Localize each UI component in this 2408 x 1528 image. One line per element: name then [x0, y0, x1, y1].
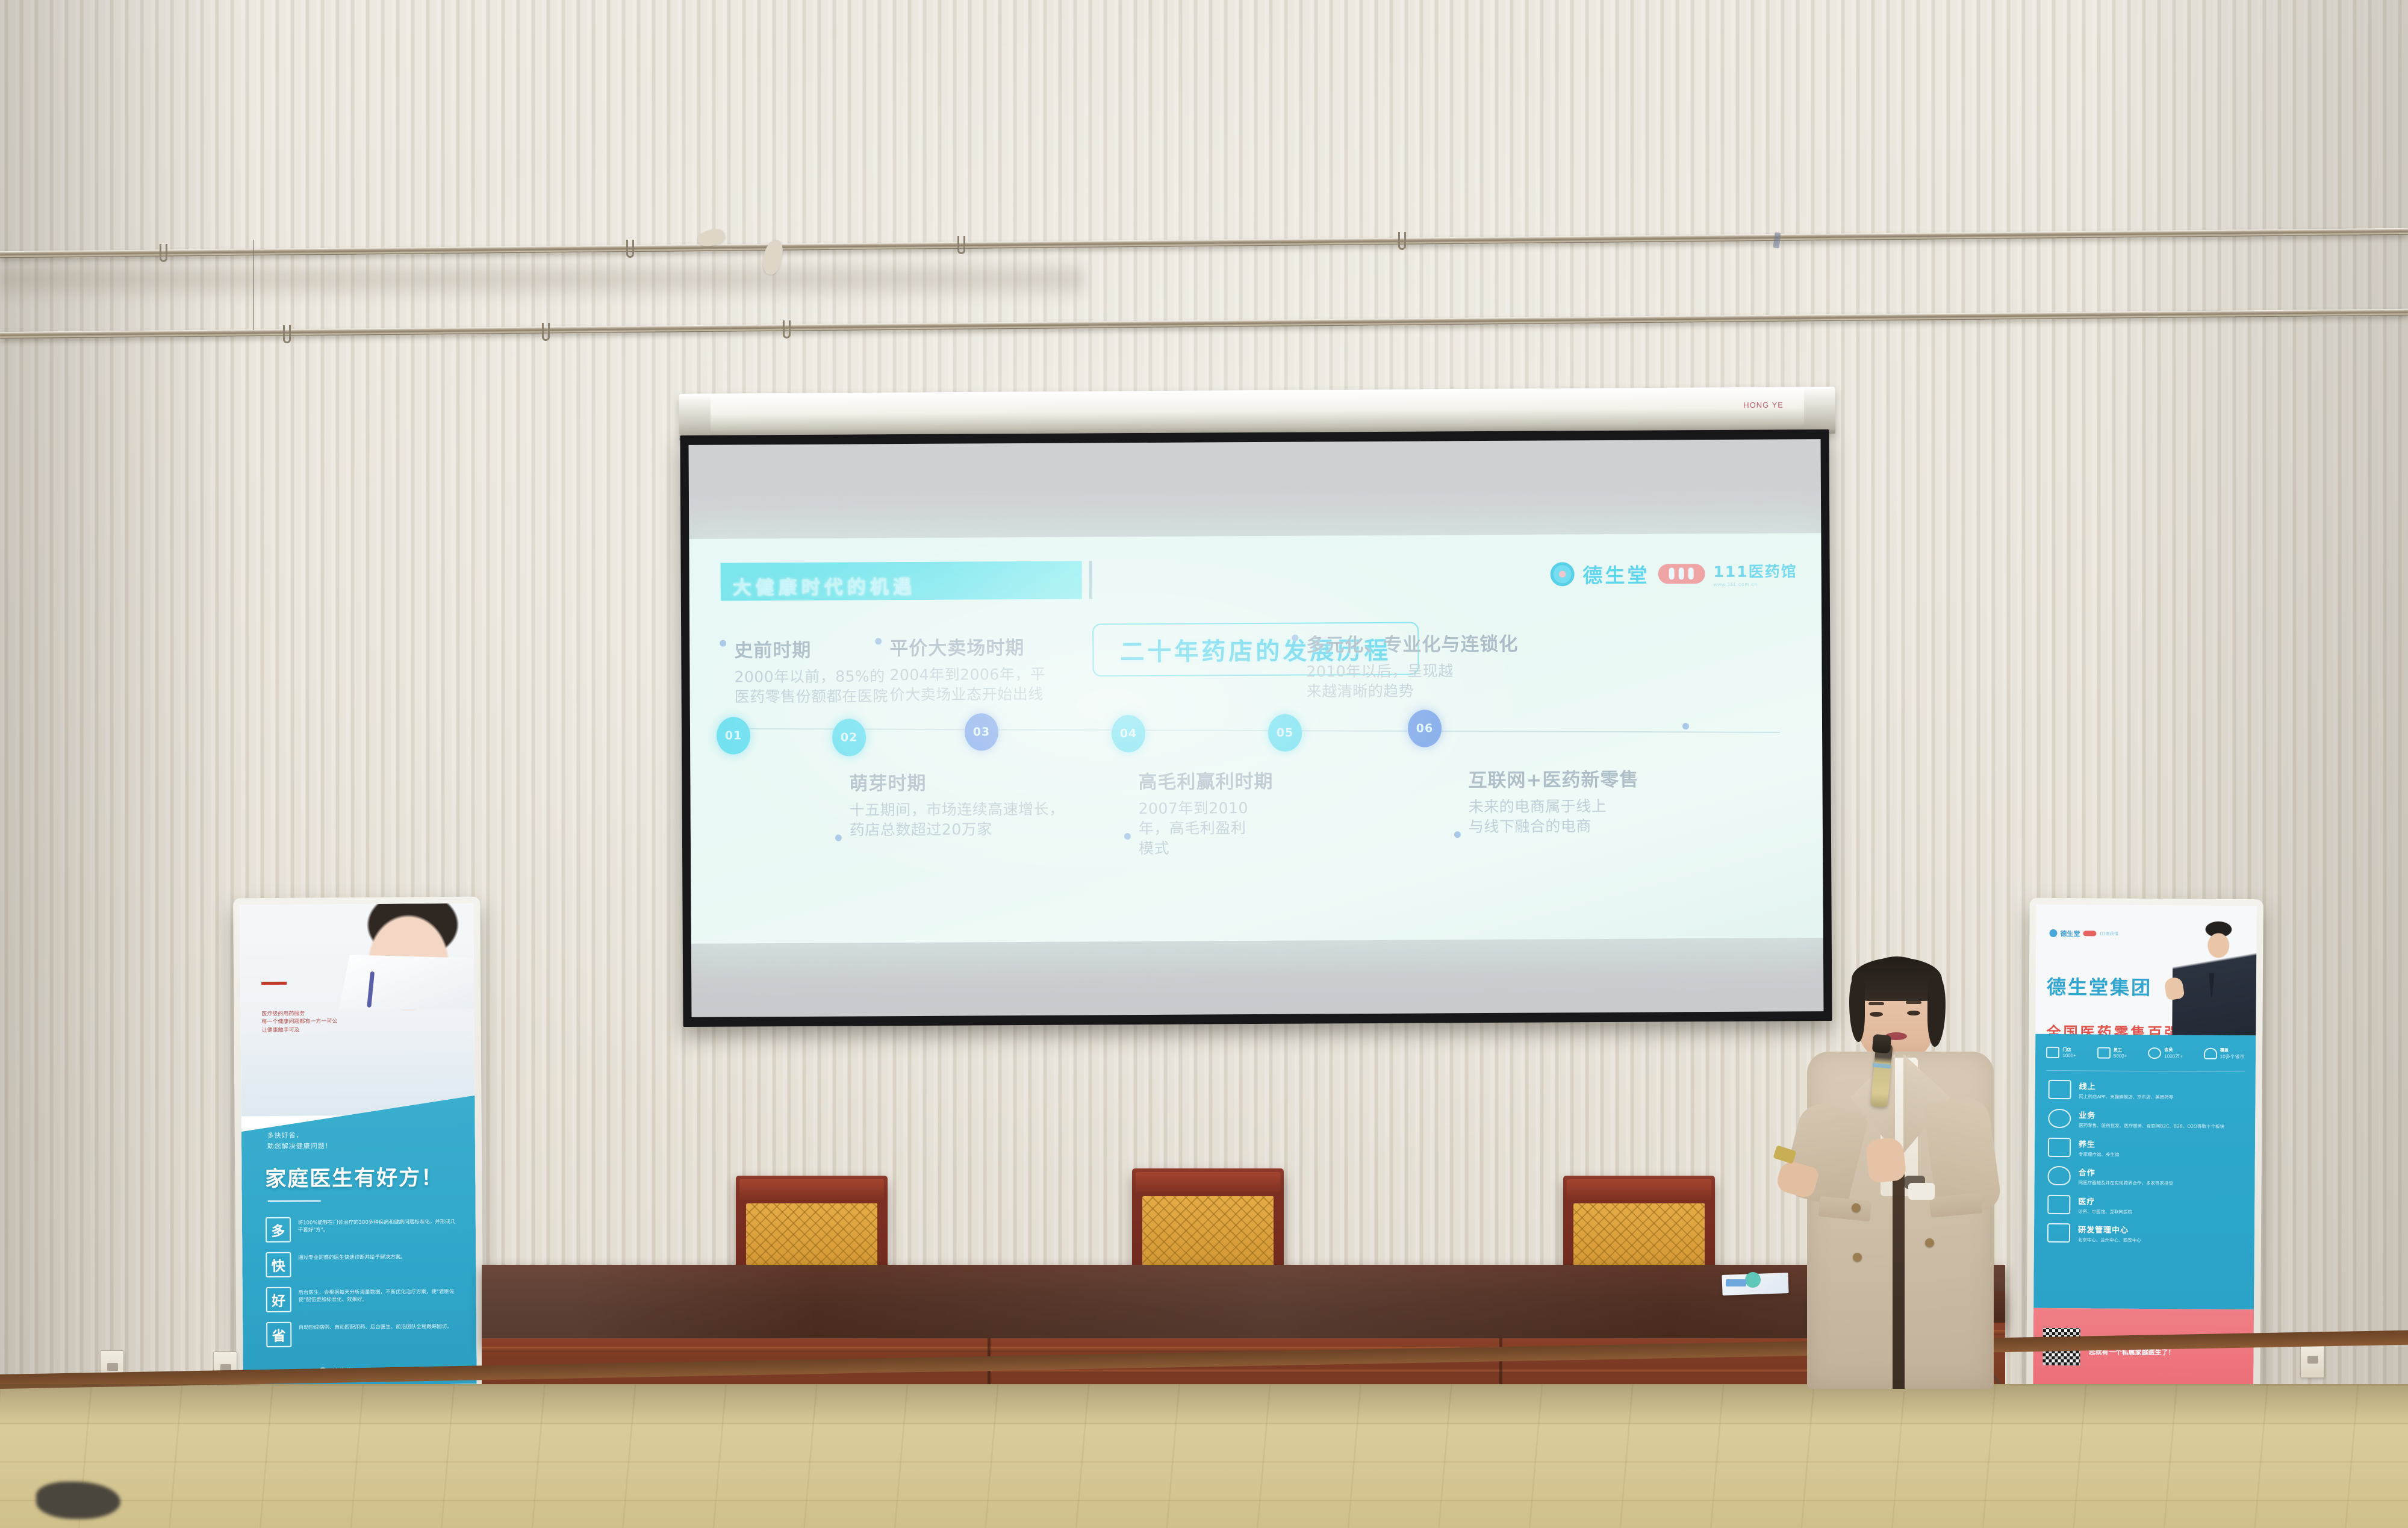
timeline-body: 十五期间，市场连续高速增长，药店总数超过20万家: [850, 799, 1072, 840]
item-desc: 同医疗器械及并在实现跨界合作，多家百家投资: [2078, 1179, 2173, 1187]
timeline-node-01: 01: [717, 717, 750, 754]
bullet-dot-icon: [875, 638, 882, 644]
screen-brand-label: HONG YE: [1743, 401, 1784, 410]
paper-accent-green: [1745, 1272, 1761, 1288]
timeline-node-label: 01: [725, 729, 742, 742]
executive-photo: [2172, 920, 2257, 1036]
brand-secondary-url: www.111.com.cn: [1714, 581, 1797, 587]
feature-desc: 自动形成病例、自动匹配用药、后台医生、前沿团队全程跟踪回访。: [299, 1321, 452, 1332]
timeline-node-label: 04: [1120, 727, 1137, 740]
banner-left-title: 家庭医生有好方！: [265, 1161, 443, 1193]
timeline-item-03: 平价大卖场时期 2004年到2006年，平价大卖场业态开始出线: [875, 632, 1056, 705]
feature-desc: 通过专业同感的医生快速诊断并给予解决方案。: [298, 1251, 406, 1262]
chair-crest: [739, 1179, 884, 1200]
business-grid-icon: [2048, 1109, 2071, 1128]
list-item: 研发管理中心北京中心、兰州中心、西安中心: [2047, 1223, 2244, 1245]
item-desc: 专家理疗馆、养生馆: [2079, 1151, 2120, 1158]
stat-item: 员工5000+: [2097, 1047, 2127, 1059]
eye-right: [1907, 1011, 1920, 1015]
rod-hook: [957, 236, 965, 254]
capsule-logo-icon: [1658, 564, 1705, 584]
banner-left-rule: [267, 1200, 320, 1202]
feature-desc: 将100%能够在门诊治疗的300多种疾病和健康问题标准化，并形成几千套好"方"。: [298, 1216, 457, 1235]
timeline-node-label: 02: [841, 731, 858, 744]
bullet-dot-icon: [835, 835, 842, 841]
brand-primary-name: 德生堂: [1582, 560, 1649, 589]
slide-brand-row: 德生堂 111医药馆 www.111.com.cn: [1550, 558, 1797, 588]
store-icon: [2046, 1047, 2059, 1058]
hair-side-left: [1849, 976, 1865, 1042]
bullet-dot-icon: [720, 640, 726, 647]
list-item: 业务医药零售、医药批发、医疗服务、互联网B2C、B2B、O2O等数十个板块: [2048, 1109, 2244, 1130]
feature-glyph: 快: [266, 1252, 291, 1277]
timeline-node-label: 06: [1416, 722, 1434, 735]
timeline-heading: 高毛利赢利时期: [1138, 766, 1310, 794]
capsule-logo-icon: [2083, 931, 2096, 937]
timeline-item-06: 互联网+医药新零售 未来的电商属于线上与线下融合的电商: [1454, 764, 1653, 837]
handshake-icon: [2047, 1166, 2070, 1185]
chair-crest: [1136, 1172, 1280, 1193]
timeline-node-06: 06: [1408, 709, 1442, 747]
banner-left-kicker: 多快好省， 助您解决健康问题！: [267, 1130, 332, 1152]
stat-label: 员工: [2114, 1047, 2127, 1053]
projected-slide: 大健康时代的机遇 德生堂 111医药馆 www.111.com.cn: [689, 533, 1823, 944]
case-endcap-right: [1804, 388, 1835, 429]
rod-hook: [1398, 232, 1406, 250]
wall-shadow-left: [0, 0, 253, 1397]
timeline-body: 未来的电商属于线上与线下融合的电商: [1469, 796, 1619, 837]
timeline-end-dot: [1682, 723, 1689, 729]
timeline-heading: 多元化、专业化与连锁化: [1306, 629, 1514, 657]
conference-room-scene: HONG YE 大健康时代的机遇 德生堂 111医药馆: [0, 0, 2408, 1528]
desheng-logo-icon: [2049, 929, 2057, 937]
list-item: 好 后台医生，会根据每天分析海量数据，不断优化治疗方案，使"君臣佐使"配伍更加标…: [266, 1286, 457, 1312]
floor-shadow: [0, 1384, 2408, 1426]
timeline-node-05: 05: [1268, 714, 1302, 752]
rnd-gear-icon: [2047, 1223, 2070, 1243]
list-item: 医疗诊所、中医馆、互联网医院: [2047, 1195, 2244, 1217]
item-title: 医疗: [2078, 1197, 2095, 1206]
hair-side-right: [1927, 976, 1946, 1047]
member-icon: [2148, 1047, 2161, 1059]
doctor-coat: [338, 954, 477, 1010]
timeline-node-label: 05: [1277, 726, 1294, 740]
timeline-body: 2000年以前，85%的医药零售份额都在医院: [734, 666, 894, 706]
banner-stand-right: 德生堂 111医药馆 德生堂集团 全国医药零售百强 德生堂创立于1995年，是一…: [2026, 898, 2263, 1394]
timeline-item-01: 史前时期 2000年以前，85%的医药零售份额都在医院: [720, 634, 895, 707]
coat-button: [1853, 1253, 1862, 1262]
timeline-item-04: 高毛利赢利时期 2007年到2010年，高毛利盈利模式: [1124, 766, 1311, 859]
timeline-heading: 平价大卖场时期: [889, 632, 1056, 660]
screen-black-border: 大健康时代的机遇 德生堂 111医药馆 www.111.com.cn: [680, 429, 1832, 1027]
item-title: 养生: [2079, 1140, 2095, 1149]
rod-hook: [160, 244, 167, 262]
stat-label: 覆盖: [2220, 1047, 2245, 1053]
brand-secondary-name: 111医药馆: [1713, 560, 1797, 582]
sleeve-cuff: [1908, 1183, 1935, 1200]
banner-right-poster: 德生堂 111医药馆 德生堂集团 全国医药零售百强 德生堂创立于1995年，是一…: [2033, 905, 2257, 1387]
item-title: 合作: [2079, 1168, 2095, 1177]
banner-right-stats: 门店1000+ 员工5000+ 会员1000万+ 覆盖10多个省市: [2046, 1046, 2245, 1060]
item-desc: 网上药店APP、天猫旗舰店、京东店、美团药零: [2079, 1093, 2173, 1101]
eyebrow-right: [1906, 1001, 1921, 1004]
stat-label: 门店: [2062, 1047, 2076, 1053]
rod-hook: [283, 325, 291, 343]
desheng-logo-icon: [1550, 562, 1574, 586]
stat-value: 1000万+: [2164, 1053, 2183, 1060]
item-desc: 北京中心、兰州中心、西安中心: [2078, 1237, 2141, 1244]
wall-socket-right[interactable]: [2300, 1343, 2324, 1378]
item-title: 研发管理中心: [2078, 1226, 2129, 1236]
item-title: 业务: [2079, 1111, 2095, 1120]
timeline-item-05: 多元化、专业化与连锁化 2010年以后，呈现越来越清晰的趋势: [1292, 629, 1515, 702]
feature-glyph: 好: [266, 1286, 291, 1312]
logo-brand-sub: 111医药馆: [2099, 931, 2118, 937]
slide-header-text: 大健康时代的机遇: [733, 572, 916, 600]
bullet-dot-icon: [1124, 833, 1131, 840]
timeline-node-04: 04: [1112, 715, 1145, 752]
eye-left: [1870, 1012, 1883, 1017]
timeline-node-02: 02: [832, 719, 866, 756]
chair-crest: [1567, 1179, 1711, 1200]
presenter-person: [1779, 940, 2020, 1397]
stat-item: 门店1000+: [2046, 1046, 2076, 1059]
item-desc: 医药零售、医药批发、医疗服务、互联网B2C、B2B、O2O等数十个板块: [2079, 1122, 2224, 1130]
stat-label: 会员: [2164, 1047, 2183, 1053]
timeline-body: 2010年以后，呈现越来越清晰的趋势: [1306, 661, 1457, 701]
timeline-body: 2007年到2010年，高毛利盈利模式: [1139, 798, 1254, 858]
rod-hook: [783, 320, 791, 338]
bullet-dot-icon: [1292, 635, 1298, 641]
staff-icon: [2097, 1047, 2111, 1059]
list-item: 多 将100%能够在门诊治疗的300多种疾病和健康问题标准化，并形成几千套好"方…: [266, 1216, 457, 1243]
microphone-head: [1872, 1034, 1892, 1054]
online-store-icon: [2048, 1080, 2071, 1099]
eyebrow-left: [1868, 1002, 1884, 1005]
feature-desc: 后台医生，会根据每天分析海量数据，不断优化治疗方案，使"君臣佐使"配伍更加标准化…: [298, 1286, 457, 1305]
timeline-item-02: 萌芽时期 十五期间，市场连续高速增长，药店总数超过20万家: [835, 767, 1070, 840]
hospital-icon: [2047, 1195, 2070, 1214]
stat-value: 10多个省市: [2220, 1053, 2245, 1060]
slide-header-band: 大健康时代的机遇: [721, 561, 1082, 601]
timeline-heading: 互联网+医药新零售: [1468, 764, 1652, 793]
list-item: 合作同医疗器械及并在实现跨界合作，多家百家投资: [2047, 1166, 2244, 1188]
item-desc: 诊所、中医馆、互联网医院: [2078, 1208, 2132, 1215]
item-title: 线上: [2079, 1082, 2096, 1091]
logo-brand-name: 德生堂: [2060, 929, 2080, 938]
banner-right-heading: 德生堂集团: [2047, 972, 2152, 1000]
stat-value: 1000+: [2062, 1053, 2076, 1058]
accent-rule: [261, 981, 287, 984]
timeline-node-03: 03: [965, 713, 998, 750]
health-cross-icon: [2048, 1137, 2071, 1156]
coat-button: [1852, 1203, 1861, 1212]
timeline-rail: [738, 728, 1780, 733]
banner-left-red-text: 医疗级的用药服务 每一个健康问题都有一方一可公 让健康触手可及: [261, 1009, 390, 1035]
projector-screen-unit: HONG YE 大健康时代的机遇 德生堂 111医药馆: [679, 390, 1835, 1031]
coat-button: [1925, 1238, 1934, 1247]
coverage-icon: [2204, 1048, 2217, 1059]
hanging-wire: [253, 240, 254, 330]
case-endcap-left: [679, 396, 711, 437]
screen-surface: 大健康时代的机遇 德生堂 111医药馆 www.111.com.cn: [689, 439, 1824, 1017]
stat-item: 覆盖10多个省市: [2204, 1047, 2245, 1060]
coat-placket: [1893, 1170, 1905, 1389]
banner-stand-left: 医疗级的用药服务 每一个健康问题都有一方一可公 让健康触手可及 多快好省， 助您…: [233, 897, 484, 1392]
rod-hook: [626, 240, 634, 258]
rod-hook: [542, 323, 550, 341]
feature-glyph: 多: [266, 1217, 291, 1242]
list-item: 养生专家理疗馆、养生馆: [2048, 1137, 2244, 1159]
stat-value: 5000+: [2114, 1053, 2127, 1059]
stat-item: 会员1000万+: [2148, 1047, 2183, 1059]
banner-left-poster: 医疗级的用药服务 每一个健康问题都有一方一可公 让健康触手可及 多快好省， 助您…: [240, 903, 477, 1386]
timeline-heading: 萌芽时期: [849, 767, 1069, 796]
timeline-heading: 史前时期: [734, 634, 894, 662]
list-item: 省 自动形成病例、自动匹配用药、后台医生、前沿团队全程跟踪回访。: [266, 1321, 458, 1347]
banner-right-logo: 德生堂 111医药馆: [2049, 929, 2118, 939]
timeline-body: 2004年到2006年，平价大卖场业态开始出线: [889, 664, 1056, 705]
brand-secondary: 111医药馆 www.111.com.cn: [1713, 560, 1797, 587]
timeline-node-label: 03: [973, 725, 991, 738]
bullet-dot-icon: [1454, 831, 1461, 838]
hand-right: [1865, 1137, 1906, 1183]
feature-glyph: 省: [266, 1321, 291, 1347]
list-item: 快 通过专业同感的医生快速诊断并给予解决方案。: [266, 1251, 457, 1277]
list-item: 线上网上药店APP、天猫旗舰店、京东店、美团药零: [2048, 1080, 2244, 1102]
slide-header-tick: [1089, 561, 1092, 599]
paper-accent-blue: [1726, 1279, 1746, 1286]
banner-right-item-list: 线上网上药店APP、天猫旗舰店、京东店、美团药零 业务医药零售、医药批发、医疗服…: [2047, 1080, 2245, 1253]
banner-left-feature-list: 多 将100%能够在门诊治疗的300多种疾病和健康问题标准化，并形成几千套好"方…: [266, 1216, 458, 1357]
